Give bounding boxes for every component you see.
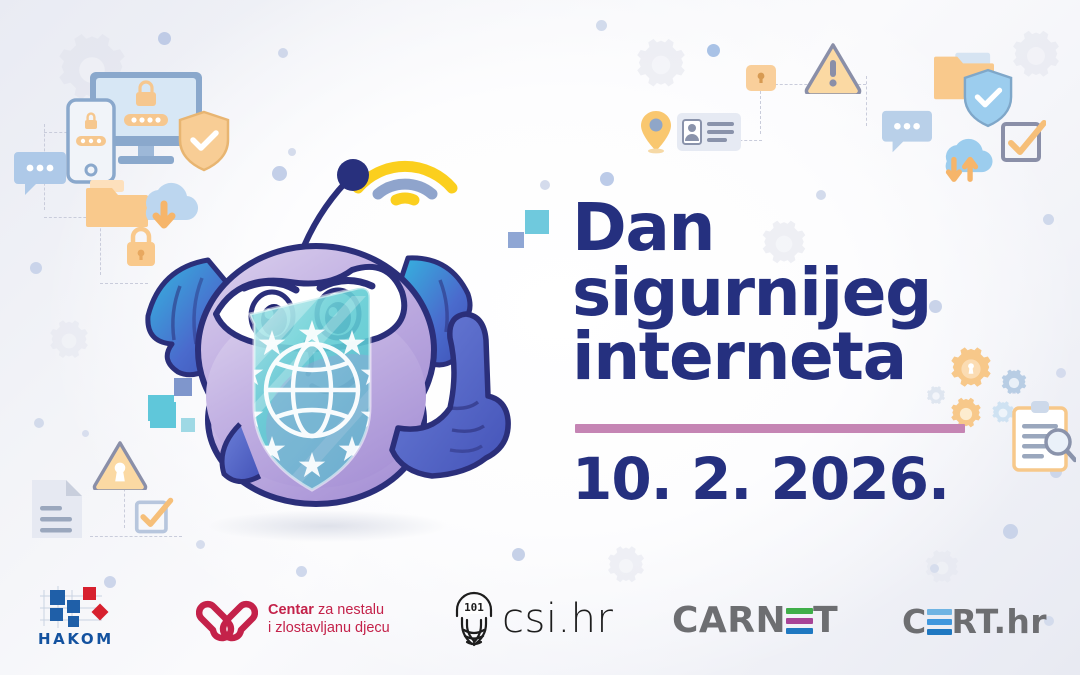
headline-line-1: Dan [572, 196, 992, 261]
decor-dot [707, 44, 720, 57]
headline-divider [575, 424, 965, 433]
safer-internet-mascot [120, 128, 540, 548]
cloud-sync-icon [928, 138, 996, 190]
hearts-infinity-icon [196, 598, 258, 642]
decor-dot [512, 548, 525, 561]
cert-wordmark-post: RT.hr [952, 602, 1047, 641]
centar-line1-rest: za nestalu [314, 602, 384, 618]
chat-bubble-icon [882, 108, 932, 156]
decor-dot [82, 430, 89, 437]
id-card-icon [676, 112, 742, 152]
logo-cert[interactable]: C RT.hr [902, 602, 1047, 641]
connector-line [866, 76, 867, 126]
checkbox-check-icon [1000, 118, 1046, 164]
carnet-wordmark-pre: CARN [672, 600, 786, 641]
centar-bold: Centar [268, 602, 314, 618]
poster-canvas: Dan sigurnijeg interneta 10. 2. 2026. HA… [0, 0, 1080, 675]
csi-wordmark: csi.hr [502, 596, 613, 642]
decor-dot [596, 20, 607, 31]
document-lines-icon [30, 478, 84, 540]
centar-line2: i zlostavljanu djecu [268, 620, 390, 638]
hakom-wordmark: HAKOM [38, 630, 114, 648]
gear-icon [1008, 28, 1064, 84]
headline-line-3: interneta [572, 325, 992, 390]
warning-triangle-icon [804, 42, 862, 94]
hakom-mark-icon [38, 584, 120, 630]
chat-bubble-icon [14, 150, 66, 198]
cert-e-bars-icon [927, 605, 952, 639]
clipboard-search-icon [1012, 400, 1076, 472]
lock-badge-icon [745, 64, 777, 92]
carnet-wordmark-post: T [813, 600, 838, 641]
decor-dot [600, 172, 614, 186]
fingerprint-digits: 101 [464, 601, 484, 614]
smartphone-lock-icon [66, 98, 116, 184]
fingerprint-icon: 101 [452, 590, 496, 648]
carnet-e-bars-icon [786, 604, 813, 638]
logo-centar[interactable]: Centar za nestalu i zlostavljanu djecu [196, 598, 390, 642]
decor-dot [30, 262, 42, 274]
logo-carnet[interactable]: CARN T [672, 600, 838, 641]
logo-hakom[interactable]: HAKOM [38, 584, 120, 648]
location-pin-icon [640, 110, 672, 154]
decor-dot [1003, 524, 1018, 539]
headline-line-2: sigurnijeg [572, 261, 992, 326]
decor-dot [34, 418, 44, 428]
partner-logos: HAKOM Centar za nestalu i zlostavljanu d… [0, 578, 1080, 675]
decor-dot [158, 32, 171, 45]
decor-dot [278, 48, 288, 58]
decor-dot [930, 564, 939, 573]
logo-csi[interactable]: 101 csi.hr [452, 590, 613, 648]
decor-dot [1043, 214, 1054, 225]
decor-dot [296, 566, 307, 577]
event-date: 10. 2. 2026. [572, 445, 949, 513]
gear-icon [46, 318, 92, 364]
cert-wordmark-pre: C [902, 602, 927, 641]
centar-wordmark: Centar za nestalu i zlostavljanu djecu [268, 602, 390, 637]
decor-dot [540, 180, 550, 190]
gear-icon [999, 368, 1029, 398]
gear-icon [632, 36, 690, 94]
decor-dot [1056, 368, 1066, 378]
headline-block: Dan sigurnijeg interneta [572, 196, 992, 390]
